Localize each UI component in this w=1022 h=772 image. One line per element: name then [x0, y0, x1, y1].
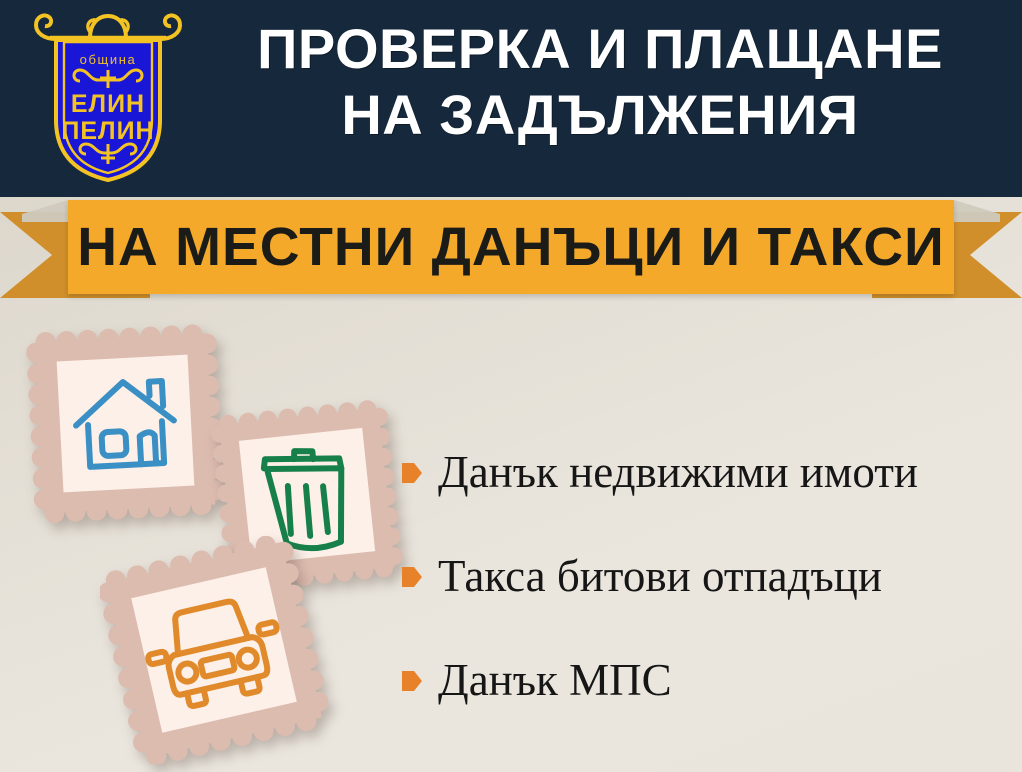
ribbon-label: НА МЕСТНИ ДАНЪЦИ И ТАКСИ	[59, 200, 963, 294]
stamp-card-property	[18, 316, 233, 531]
list-item[interactable]: Данък недвижими имоти	[402, 420, 1012, 524]
bullet-arrow-icon	[402, 461, 422, 485]
stamp-card-vehicle	[100, 536, 328, 764]
poster-canvas: община ЕЛИН ПЕЛИН	[0, 0, 1022, 772]
page-title-line-1: ПРОВЕРКА И ПЛАЩАНЕ	[190, 16, 1010, 82]
tax-type-list: Данък недвижими имоти Такса битови отпад…	[402, 420, 1012, 732]
svg-text:ЕЛИН: ЕЛИН	[71, 90, 145, 118]
svg-text:община: община	[80, 52, 137, 67]
svg-text:ПЕЛИН: ПЕЛИН	[61, 117, 154, 145]
list-item[interactable]: Такса битови отпадъци	[402, 524, 1012, 628]
page-title-line-2: НА ЗАДЪЛЖЕНИЯ	[190, 82, 1010, 148]
page-title: ПРОВЕРКА И ПЛАЩАНЕ НА ЗАДЪЛЖЕНИЯ	[190, 16, 1010, 148]
bullet-arrow-icon	[402, 565, 422, 589]
list-item[interactable]: Данък МПС	[402, 628, 1012, 732]
bullet-arrow-icon	[402, 669, 422, 693]
ribbon-band: НА МЕСТНИ ДАНЪЦИ И ТАКСИ	[68, 200, 954, 294]
subtitle-ribbon: НА МЕСТНИ ДАНЪЦИ И ТАКСИ	[0, 196, 1022, 306]
municipality-logo: община ЕЛИН ПЕЛИН	[28, 8, 188, 188]
list-item-label: Данък МПС	[438, 655, 672, 705]
header-bar: община ЕЛИН ПЕЛИН	[0, 0, 1022, 197]
list-item-label: Такса битови отпадъци	[438, 551, 882, 601]
list-item-label: Данък недвижими имоти	[438, 447, 918, 497]
